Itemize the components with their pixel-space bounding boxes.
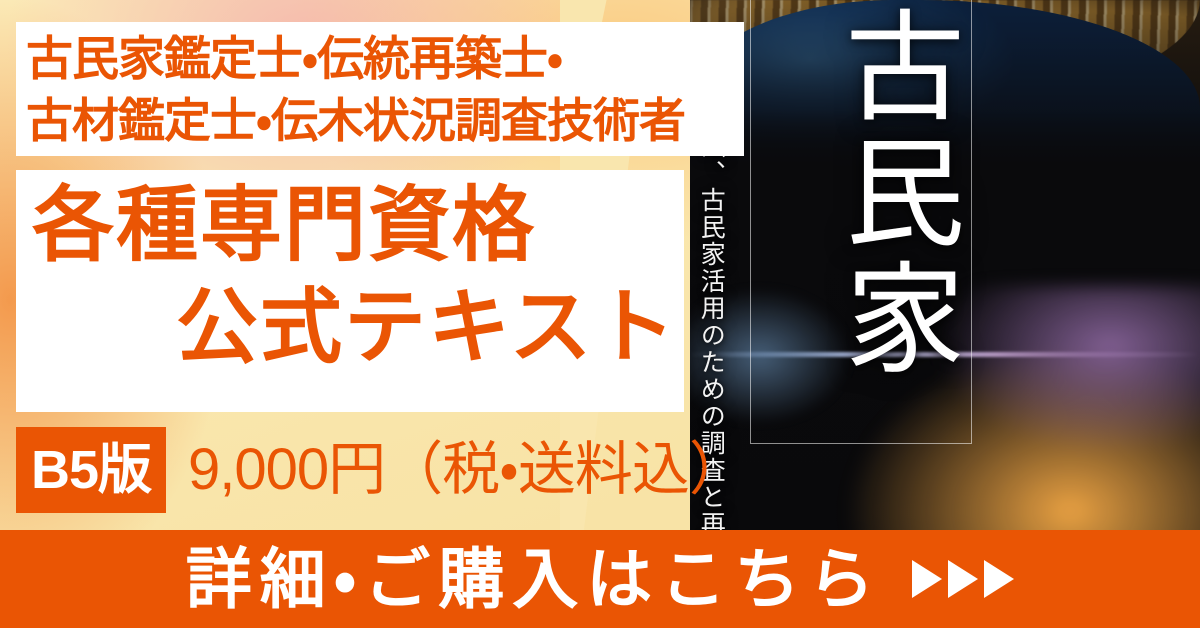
subheadline-text: 古民家鑑定士・伝統再築士・ 古材鑑定士・伝木状況調査技術者 — [26, 28, 685, 152]
price-row: B5版 9,000円（税・送料込） — [16, 427, 746, 513]
subheadline-line-1: 古民家鑑定士・伝統再築士・ — [26, 28, 685, 90]
subheadline-line-2: 古材鑑定士・伝木状況調査技術者 — [26, 90, 685, 152]
triangle-right-icon — [948, 560, 978, 598]
cta-bar[interactable]: 詳細・ご購入はこちら — [0, 530, 1200, 628]
size-badge: B5版 — [16, 427, 166, 513]
book-cover-image: 伝統構法、古民家活用のための調査と再生の 古民家 — [690, 0, 1200, 566]
cta-arrows — [912, 560, 1014, 598]
headline-panel: 各種専門資格 公式テキスト — [16, 170, 684, 412]
promo-banner: 伝統構法、古民家活用のための調査と再生の 古民家 古民家鑑定士・伝統再築士・ 古… — [0, 0, 1200, 628]
price-text: 9,000円（税・送料込） — [188, 441, 746, 499]
cta-label: 詳細・ご購入はこちら — [186, 546, 882, 612]
subheadline-panel: 古民家鑑定士・伝統再築士・ 古材鑑定士・伝木状況調査技術者 — [16, 22, 744, 156]
headline-line-2: 公式テキスト — [176, 280, 678, 377]
triangle-right-icon — [984, 560, 1014, 598]
headline-line-1: 各種専門資格 — [32, 178, 536, 275]
book-cover-title: 古民家 — [764, 4, 964, 382]
triangle-right-icon — [912, 560, 942, 598]
